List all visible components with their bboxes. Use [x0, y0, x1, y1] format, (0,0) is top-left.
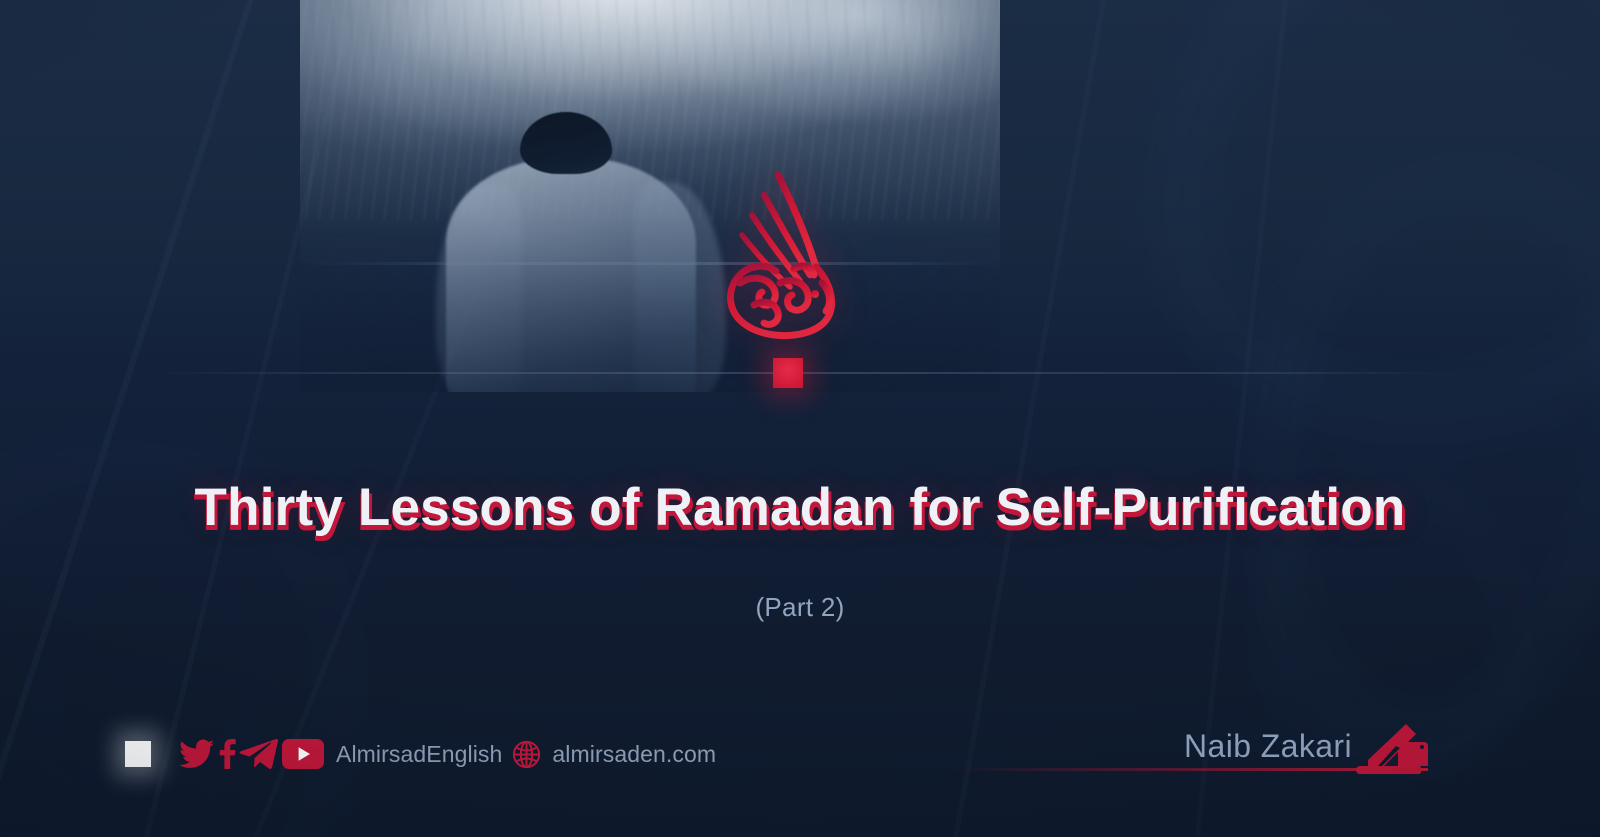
praying-man-silhouette: [428, 112, 728, 392]
page-subtitle: (Part 2): [0, 592, 1600, 623]
globe-icon: [512, 740, 541, 769]
twitter-icon[interactable]: [179, 739, 215, 769]
author-block: Naib Zakari: [1184, 722, 1428, 774]
title-container: Thirty Lessons of Ramadan for Self-Purif…: [0, 480, 1600, 536]
footer-social-bar: AlmirsadEnglish almirsaden.com: [125, 733, 716, 775]
white-square-marker: [125, 741, 151, 767]
al-mirsad-ramadan-calligraphy-logo: [718, 163, 854, 341]
social-handle: AlmirsadEnglish: [336, 741, 502, 768]
website-url: almirsaden.com: [552, 741, 716, 768]
red-accent-square: [773, 358, 803, 388]
author-name: Naib Zakari: [1184, 730, 1352, 766]
pen-icon-wrapper: [1354, 722, 1428, 774]
writing-pen-icon: [1354, 722, 1428, 774]
author-underline: [948, 768, 1428, 771]
background-photo-scene: [300, 0, 1000, 392]
youtube-icon[interactable]: [282, 739, 324, 769]
social-icons-group: [179, 739, 324, 769]
globe-icon-wrapper: [512, 740, 541, 769]
facebook-icon[interactable]: [218, 739, 236, 769]
silhouette-head: [520, 112, 612, 174]
telegram-icon[interactable]: [239, 739, 279, 769]
presentation-slide: Thirty Lessons of Ramadan for Self-Purif…: [0, 0, 1600, 837]
silhouette-body: [446, 158, 696, 392]
page-title: Thirty Lessons of Ramadan for Self-Purif…: [195, 480, 1406, 536]
